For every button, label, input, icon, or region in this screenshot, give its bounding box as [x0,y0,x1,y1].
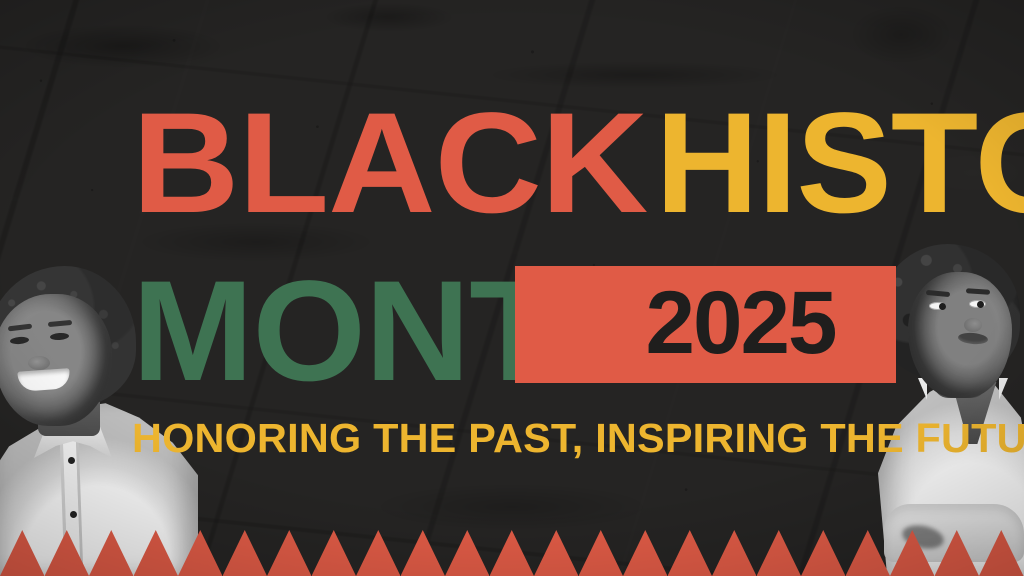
triangle-22 [935,530,980,576]
year-badge-text: 2025 [576,278,836,367]
triangle-15 [623,530,668,576]
triangle-2 [45,530,90,576]
triangle-20 [846,530,891,576]
poster-content: BLACK HISTORY MONTH 2025 HONORING THE PA… [0,0,1024,576]
triangle-14 [579,530,624,576]
headline-word-black: BLACK [132,105,647,222]
year-badge: 2025 [515,266,896,383]
triangle-6 [223,530,268,576]
triangle-18 [757,530,802,576]
triangle-23 [979,530,1024,576]
headline-row-two: MONTH 2025 [132,256,898,386]
triangle-1 [0,530,45,576]
triangle-16 [668,530,713,576]
triangle-5 [178,530,223,576]
triangle-12 [490,530,535,576]
headline-row-one: BLACK HISTORY [132,100,898,222]
bottom-triangle-border [0,530,1024,576]
triangle-21 [890,530,935,576]
triangle-19 [801,530,846,576]
triangle-11 [445,530,490,576]
triangle-3 [89,530,134,576]
headline-word-history: HISTORY [655,105,1024,222]
triangle-7 [267,530,312,576]
triangle-4 [134,530,179,576]
poster-tagline: HONORING THE PAST, INSPIRING THE FUTURE [132,418,900,459]
triangle-10 [401,530,446,576]
triangle-13 [534,530,579,576]
triangle-9 [356,530,401,576]
triangle-17 [712,530,757,576]
triangle-8 [312,530,357,576]
black-history-month-poster: BLACK HISTORY MONTH 2025 HONORING THE PA… [0,0,1024,576]
